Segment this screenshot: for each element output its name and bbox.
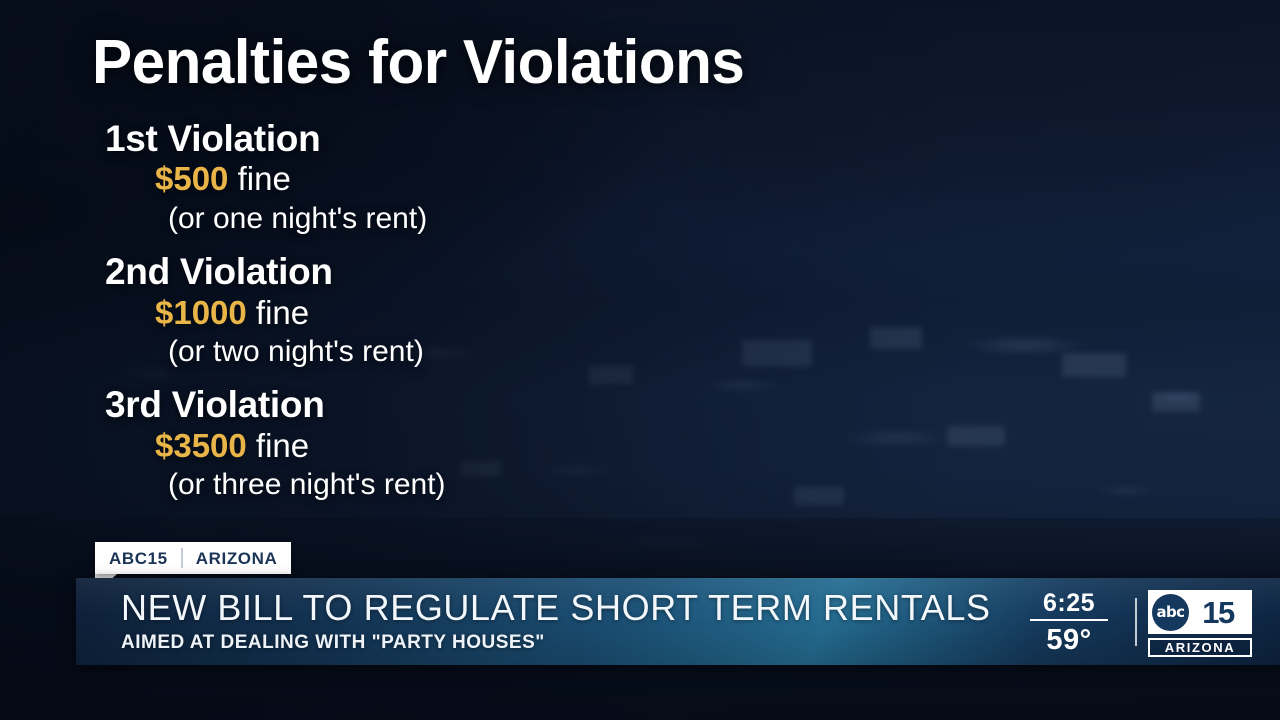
- violation-item: 1st Violation $500 fine (or one night's …: [0, 118, 620, 237]
- violation-alternative: (or three night's rent): [168, 466, 620, 504]
- logo-main-block: abc 15: [1148, 590, 1252, 634]
- violation-alternative: (or one night's rent): [168, 200, 620, 238]
- violation-heading: 1st Violation: [105, 118, 620, 159]
- current-temperature: 59°: [1028, 625, 1110, 655]
- violation-fine-line: $3500 fine: [155, 426, 620, 466]
- violation-amount: $500: [155, 160, 228, 197]
- violation-item: 2nd Violation $1000 fine (or two night's…: [0, 251, 620, 370]
- time-temperature-block: 6:25 59°: [1028, 590, 1110, 656]
- violation-amount: $3500: [155, 427, 247, 464]
- broadcast-screenshot: Penalties for Violations 1st Violation $…: [0, 0, 1280, 720]
- violation-fine-line: $500 fine: [155, 159, 620, 199]
- violations-list: 1st Violation $500 fine (or one night's …: [0, 118, 620, 504]
- logo-channel-number: 15: [1189, 597, 1247, 628]
- station-tag-secondary: ARIZONA: [196, 550, 278, 567]
- station-tag: ABC15 ARIZONA: [95, 542, 291, 574]
- violation-heading: 3rd Violation: [105, 384, 620, 425]
- page-title: Penalties for Violations: [92, 32, 744, 94]
- violation-alternative: (or two night's rent): [168, 333, 620, 371]
- violation-fine-line: $1000 fine: [155, 293, 620, 333]
- time-temp-divider: [1030, 619, 1108, 621]
- violation-item: 3rd Violation $3500 fine (or three night…: [0, 384, 620, 503]
- abc15-logo: abc 15 ARIZONA: [1148, 590, 1252, 657]
- lower-third-banner: NEW BILL TO REGULATE SHORT TERM RENTALS …: [76, 578, 1280, 665]
- logo-market-label: ARIZONA: [1148, 638, 1252, 657]
- violation-fine-label: fine: [247, 294, 309, 331]
- current-time: 6:25: [1028, 590, 1110, 616]
- abc-circle-icon: abc: [1152, 594, 1189, 631]
- station-tag-primary: ABC15: [109, 550, 168, 567]
- station-tag-divider: [181, 548, 183, 568]
- banner-vertical-divider: [1135, 598, 1137, 646]
- violation-fine-label: fine: [247, 427, 309, 464]
- banner-headline: NEW BILL TO REGULATE SHORT TERM RENTALS: [121, 590, 991, 626]
- violation-heading: 2nd Violation: [105, 251, 620, 292]
- violation-amount: $1000: [155, 294, 247, 331]
- banner-subheadline: AIMED AT DEALING WITH "PARTY HOUSES": [121, 633, 545, 652]
- violation-fine-label: fine: [228, 160, 290, 197]
